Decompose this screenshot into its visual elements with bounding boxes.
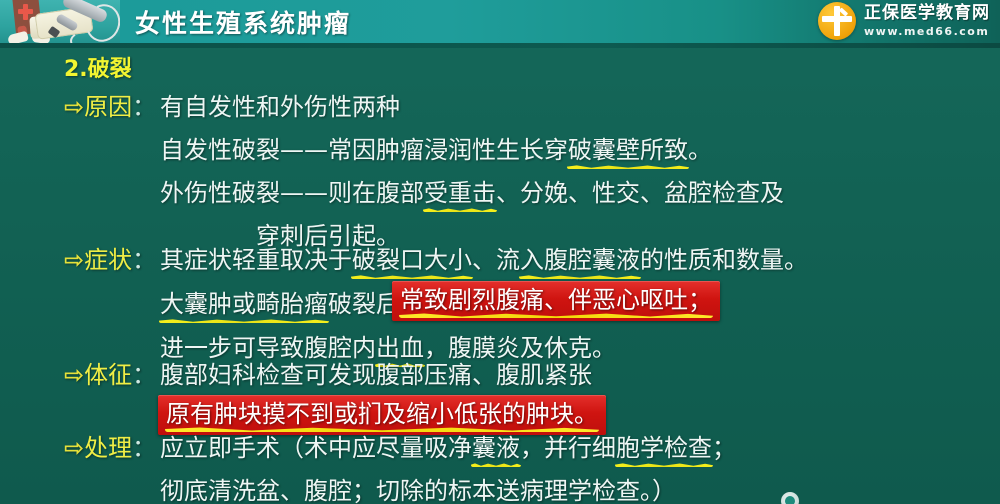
text-run: 、分娩、性交、盆腔检查及 xyxy=(496,179,784,207)
brand-logo: 正保医学教育网 www.med66.com xyxy=(818,2,990,40)
label-cause: 原因 xyxy=(84,93,132,121)
label-sign: 体征 xyxy=(84,361,132,389)
cause-line-3: 外伤性破裂——则在腹部受重击、分娩、性交、盆腔检查及 xyxy=(160,181,784,205)
text-run: 自发性破裂——常因肿瘤浸润性生长穿 xyxy=(160,136,568,164)
arrow-right-icon: ⇨ xyxy=(64,434,84,462)
brand-name: 正保医学教育网 xyxy=(864,5,990,22)
underlined-text: 盆、腹腔 xyxy=(256,479,352,503)
brand-text: 正保医学教育网 www.med66.com xyxy=(864,5,990,37)
bottom-edge-marker-inner xyxy=(785,496,795,504)
bullet-symptom: ⇨症状： xyxy=(64,248,156,272)
text-run: 。） xyxy=(640,477,676,504)
colon-management: ： xyxy=(132,434,156,462)
label-management: 处理 xyxy=(84,434,132,462)
highlight-text-2: 原有肿块摸不到或扪及缩小低张的肿块。 xyxy=(166,402,598,426)
text-run: 腹部妇科检查可发现腹部压痛、腹肌紧张 xyxy=(160,361,592,389)
section-heading: 2.破裂 xyxy=(64,58,132,82)
colon-sign: ： xyxy=(132,361,156,389)
bullet-cause: ⇨原因： xyxy=(64,95,156,119)
text-run: 进一步可导致腹腔内 xyxy=(160,334,376,362)
management-line-1: 应立即手术（术中应尽量吸净囊液，并行细胞学检查； xyxy=(160,436,736,460)
label-symptom: 症状 xyxy=(84,246,132,274)
underlined-text: 大囊肿或畸胎瘤 xyxy=(160,292,328,316)
underlined-text: 胞学检查 xyxy=(616,436,712,460)
text-run: 应立即手术（术中应尽量吸净 xyxy=(160,434,472,462)
arrow-right-icon: ⇨ xyxy=(64,361,84,389)
management-line-2: 彻底清洗盆、腹腔；切除的标本送病理学检查。） xyxy=(160,479,676,503)
text-run: 有自发性和外伤性两种 xyxy=(160,93,400,121)
symptom-line-2: 大囊肿或畸胎瘤破裂后， xyxy=(160,292,424,316)
cause-line-1: 有自发性和外伤性两种 xyxy=(160,95,400,119)
colon-symptom: ： xyxy=(132,246,156,274)
cause-line-2: 自发性破裂——常因肿瘤浸润性生长穿破囊壁所致。 xyxy=(160,138,712,162)
underlined-text: 破裂口大小 xyxy=(352,248,472,272)
text-run: ，并行细 xyxy=(520,434,616,462)
cross-circle-logo-icon xyxy=(818,2,856,40)
medical-cartoon-illustration xyxy=(0,0,120,48)
underlined-text: 受重击 xyxy=(424,181,496,205)
slide-content: 2.破裂 ⇨原因： 有自发性和外伤性两种 自发性破裂——常因肿瘤浸润性生长穿破囊… xyxy=(0,48,1000,504)
text-run: ，腹膜炎及休克。 xyxy=(424,334,616,362)
symptom-line-3: 进一步可导致腹腔内出血，腹膜炎及休克。 xyxy=(160,336,616,360)
page-title: 女性生殖系统肿瘤 xyxy=(135,9,351,39)
slide-header: 女性生殖系统肿瘤 正保医学教育网 www.med66.com xyxy=(0,0,1000,48)
text-run: ； xyxy=(712,434,736,462)
text-run: ；切除的标本 xyxy=(352,477,496,504)
text-run: 彻底清洗 xyxy=(160,477,256,504)
symptom-line-1: 其症状轻重取决于破裂口大小、流入腹腔囊液的性质和数量。 xyxy=(160,248,808,272)
red-cross-icon-bar xyxy=(18,9,33,14)
highlight-box-symptom: 常致剧烈腹痛、伴恶心呕吐； xyxy=(392,281,720,321)
underlined-text: 入腹腔囊液 xyxy=(520,248,640,272)
slide-root: 女性生殖系统肿瘤 正保医学教育网 www.med66.com 2.破裂 ⇨原因：… xyxy=(0,0,1000,504)
highlight-box-sign: 原有肿块摸不到或扪及缩小低张的肿块。 xyxy=(158,395,606,435)
cause-line-4: 穿刺后引起。 xyxy=(256,224,400,248)
cable-loop-icon-2 xyxy=(70,30,108,48)
text-run: 。 xyxy=(688,136,712,164)
arrow-right-icon: ⇨ xyxy=(64,93,84,121)
colon-cause: ： xyxy=(132,93,156,121)
sign-line-1: 腹部妇科检查可发现腹部压痛、腹肌紧张 xyxy=(160,363,592,387)
underlined-text: 送病理学检查 xyxy=(496,479,640,503)
text-run: 外伤性破裂——则在腹部 xyxy=(160,179,424,207)
text-run: 其症状轻重取决于 xyxy=(160,246,352,274)
underlined-text: 出血 xyxy=(376,336,424,360)
bullet-management: ⇨处理： xyxy=(64,436,156,460)
brand-url: www.med66.com xyxy=(864,26,990,37)
text-run: 、流 xyxy=(472,246,520,274)
text-run: 的性质和数量。 xyxy=(640,246,808,274)
underlined-text: 破囊壁所致 xyxy=(568,138,688,162)
underlined-text: 囊液 xyxy=(472,436,520,460)
bullet-sign: ⇨体征： xyxy=(64,363,156,387)
arrow-right-icon: ⇨ xyxy=(64,246,84,274)
highlight-text-1: 常致剧烈腹痛、伴恶心呕吐； xyxy=(400,288,712,312)
cartoon-shoe-icon xyxy=(7,31,29,46)
